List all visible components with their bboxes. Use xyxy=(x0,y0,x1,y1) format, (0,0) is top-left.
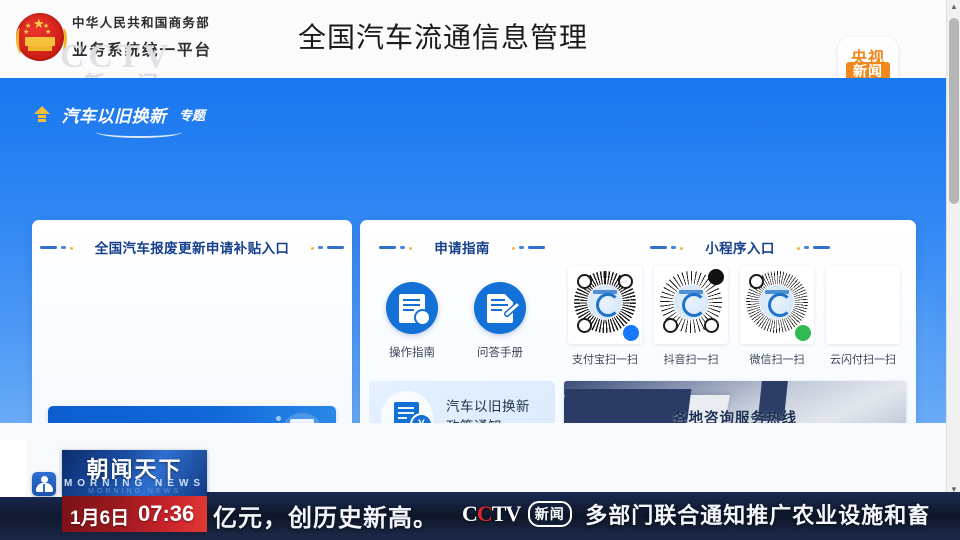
miniapp-title-deco-left-icon xyxy=(650,243,692,251)
policy-notice-line-1: 汽车以旧换新 xyxy=(446,399,530,414)
miniapp-title-deco-right-icon xyxy=(788,243,830,251)
page-title: 全国汽车流通信息管理 xyxy=(298,16,588,56)
scroll-up-arrow-icon[interactable]: ▲ xyxy=(947,0,960,14)
guide-item-operation-manual-label: 操作指南 xyxy=(372,344,452,360)
guide-item-faq-manual[interactable] xyxy=(474,282,526,334)
breadcrumb[interactable]: 汽车以旧换新 专题 xyxy=(34,102,205,128)
page-scrollbar[interactable]: ▲ ▼ xyxy=(946,0,960,497)
qr-code-douyin-label: 抖音扫一扫 xyxy=(648,351,734,367)
douyin-app-badge xyxy=(708,269,724,285)
broadcast-time: 07:36 xyxy=(138,501,194,527)
screen-root: ★★★ ★★ 中华人民共和国商务部 业务系统统一平台 CCTV 新 闻 全国汽车… xyxy=(0,0,960,540)
alipay-app-badge xyxy=(623,325,639,341)
ministry-line-1: 中华人民共和国商务部 xyxy=(72,12,262,31)
breadcrumb-underline xyxy=(96,126,182,138)
qr-code-alipay-label: 支付宝扫一扫 xyxy=(562,351,648,367)
policy-notice-card[interactable]: ¥ 汽车以旧换新 政策通知 xyxy=(369,381,555,423)
hero-band: 汽车以旧换新 专题 全国汽车报废更新申请补贴入口 2026年报废更新申请入口 xyxy=(0,78,946,423)
wechat-app-badge xyxy=(795,325,811,341)
browser-page: ★★★ ★★ 中华人民共和国商务部 业务系统统一平台 CCTV 新 闻 全国汽车… xyxy=(0,0,946,497)
cctv-news-banner: CCTV 新闻 多部门联合通知推广农业设施和畜 xyxy=(462,498,930,526)
title-deco-left-icon xyxy=(40,243,82,251)
hotline-banner-title: 各地咨询服务热线 xyxy=(564,407,906,423)
guide-title-deco-right-icon xyxy=(503,243,545,251)
breadcrumb-title: 汽车以旧换新 xyxy=(61,102,166,127)
news-ticker-text: 亿元，创历史新高。 xyxy=(213,498,438,533)
date-time-bar: 1月6日 07:36 xyxy=(62,496,207,532)
qr-code-alipay[interactable] xyxy=(568,266,642,344)
unionpay-qr-icon xyxy=(831,270,895,334)
qr-code-wechat-label: 微信扫一扫 xyxy=(734,351,820,367)
qr-code-douyin[interactable] xyxy=(654,266,728,344)
subsidy-panel-title: 全国汽车报废更新申请补贴入口 xyxy=(32,237,352,257)
cctv-wordmark: CCTV xyxy=(462,501,520,527)
news-headline: 多部门联合通知推广农业设施和畜 xyxy=(585,498,930,530)
broadcast-date: 1月6日 xyxy=(70,503,129,530)
qr-code-unionpay-label: 云闪付扫一扫 xyxy=(820,351,906,367)
scrollbar-thumb[interactable] xyxy=(949,18,959,204)
qr-code-wechat[interactable] xyxy=(740,266,814,344)
cctv-news-pill: 新闻 xyxy=(528,501,572,527)
guide-item-faq-manual-label: 问答手册 xyxy=(460,344,540,360)
subsidy-panel-title-text: 全国汽车报废更新申请补贴入口 xyxy=(95,237,290,257)
qr-code-unionpay[interactable] xyxy=(826,266,900,344)
subsidy-entry-panel: 全国汽车报废更新申请补贴入口 2026年报废更新申请入口 xyxy=(32,220,352,423)
home-arrow-icon xyxy=(34,106,50,124)
document-art-icon xyxy=(274,410,326,423)
hotline-banner[interactable]: 各地咨询服务热线 xyxy=(564,381,906,423)
site-header: ★★★ ★★ 中华人民共和国商务部 业务系统统一平台 CCTV 新 闻 全国汽车… xyxy=(0,0,946,78)
assistant-icon[interactable] xyxy=(32,472,56,496)
policy-notice-line-2: 政策通知 xyxy=(446,419,502,423)
program-name-en-shadow: MORNING NEWS xyxy=(62,488,207,495)
entry-button-2026[interactable]: 2026年报废更新申请入口 xyxy=(48,406,336,423)
guide-panel-title: 申请指南 xyxy=(360,237,564,257)
breadcrumb-suffix: 专题 xyxy=(179,105,205,124)
title-deco-right-icon xyxy=(302,243,344,251)
program-logo: 朝闻天下 MORNING NEWS MORNING NEWS xyxy=(62,450,207,496)
guide-panel-title-text: 申请指南 xyxy=(434,237,490,257)
guide-title-deco-left-icon xyxy=(379,243,421,251)
miniapp-panel-title-text: 小程序入口 xyxy=(705,237,775,257)
miniapp-panel-title: 小程序入口 xyxy=(564,237,916,257)
guide-and-miniapp-panel: 申请指南 小程序入口 xyxy=(360,220,916,423)
guide-item-operation-manual[interactable] xyxy=(386,282,438,334)
policy-notice-text: 汽车以旧换新 政策通知 xyxy=(446,397,530,423)
